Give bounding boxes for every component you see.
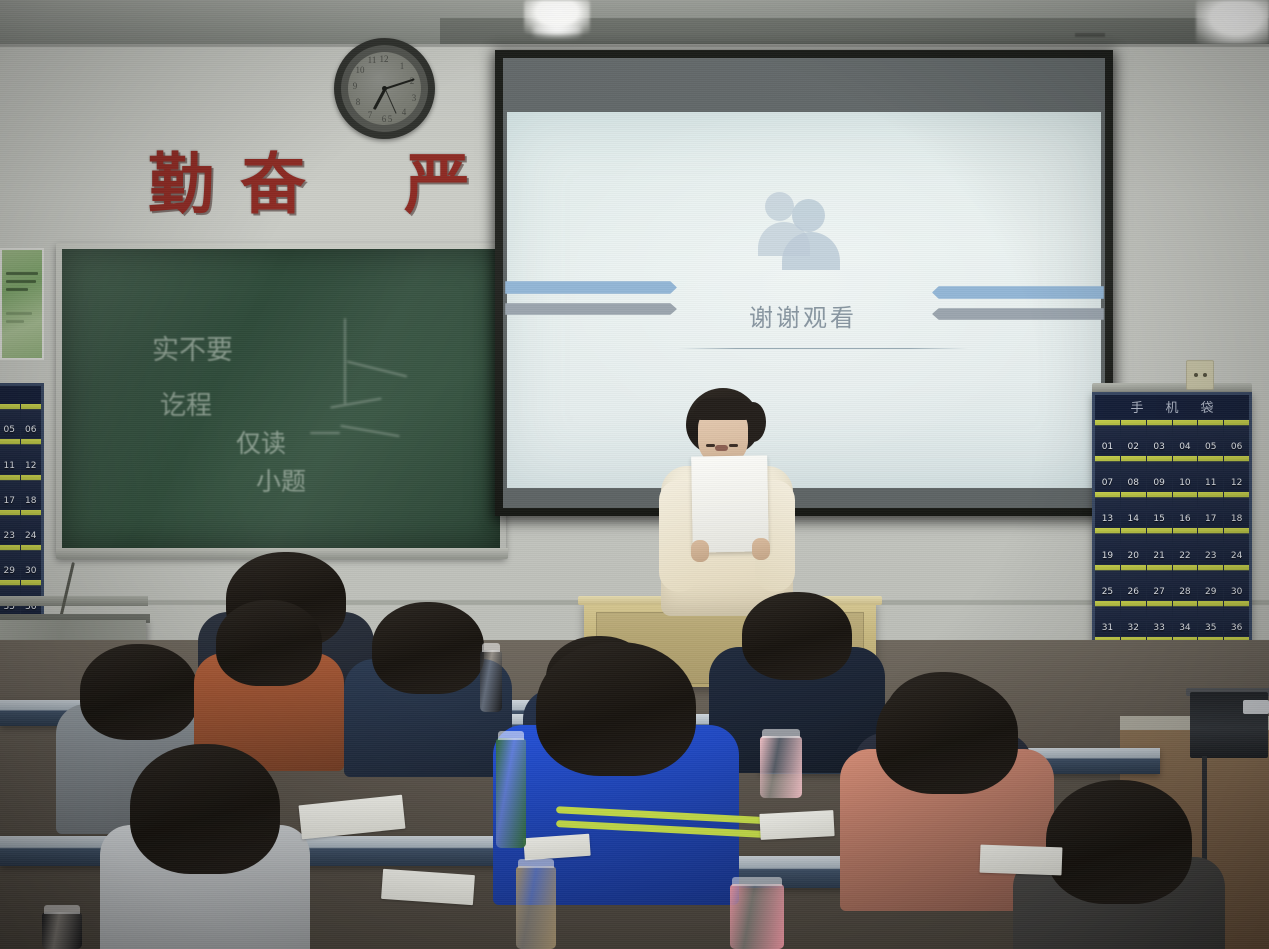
black-bottle-cap-cap xyxy=(44,905,80,914)
student-head xyxy=(742,592,852,680)
black-bottle-cap xyxy=(42,912,82,949)
student-head xyxy=(372,602,484,694)
paper-sheet xyxy=(980,845,1063,876)
student-head xyxy=(536,642,696,776)
beige-tumbler xyxy=(516,866,556,949)
paper-sheet xyxy=(759,810,834,840)
green-thermos-cap xyxy=(498,731,524,740)
paper-sheet xyxy=(299,795,406,840)
student-head xyxy=(1046,780,1192,904)
student-head xyxy=(130,744,280,874)
student-head xyxy=(216,600,322,686)
pink-mug-cap xyxy=(762,729,800,738)
seated-students xyxy=(0,0,1269,949)
paper-sheet xyxy=(523,834,590,861)
paper-sheet xyxy=(381,869,475,905)
pink-bottle xyxy=(730,884,784,949)
classroom-photo: 12 1 2 3 4 5 6 7 8 9 10 11 勤奋 严谨 xyxy=(0,0,1269,949)
black-thermos-cap xyxy=(482,643,500,652)
student-head xyxy=(876,676,1018,794)
pink-bottle-cap xyxy=(732,877,782,886)
pink-mug xyxy=(760,736,802,798)
black-thermos xyxy=(480,650,502,712)
beige-tumbler-cap xyxy=(518,859,554,868)
green-thermos xyxy=(496,738,526,848)
student-head xyxy=(80,644,198,740)
